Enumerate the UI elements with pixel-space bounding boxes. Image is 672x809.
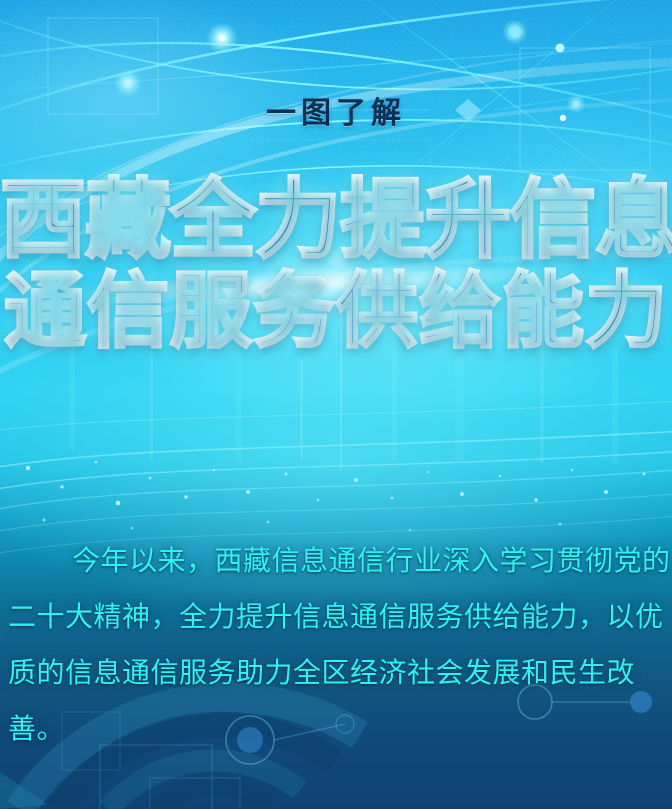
title-line-2: 通信服务供给能力: [0, 262, 672, 362]
infographic-poster: 一图了解 西藏全力提升信息 通信服务供给能力 今年以来，西藏信息通信行业深入学习…: [0, 0, 672, 809]
body-paragraph: 今年以来，西藏信息通信行业深入学习贯彻党的 二十大精神，全力提升信息通信服务供给…: [0, 533, 672, 757]
title-line-2-text: 通信服务供给能力: [4, 266, 668, 357]
body-line-4: 善。: [0, 701, 672, 757]
particle-dots: [26, 461, 645, 532]
body-line-1: 今年以来，西藏信息通信行业深入学习贯彻党的: [0, 533, 672, 589]
body-line-2: 二十大精神，全力提升信息通信服务供给能力，以优: [0, 589, 672, 645]
body-line-3: 质的信息通信服务助力全区经济社会发展和民生改: [0, 645, 672, 701]
bottom-triangle-accent: [0, 772, 48, 809]
title-line-1-text: 西藏全力提升信息: [0, 172, 672, 268]
title-line-1: 西藏全力提升信息: [0, 170, 672, 270]
eyebrow-label: 一图了解: [0, 88, 672, 132]
page-title: 西藏全力提升信息 通信服务供给能力: [0, 170, 672, 362]
